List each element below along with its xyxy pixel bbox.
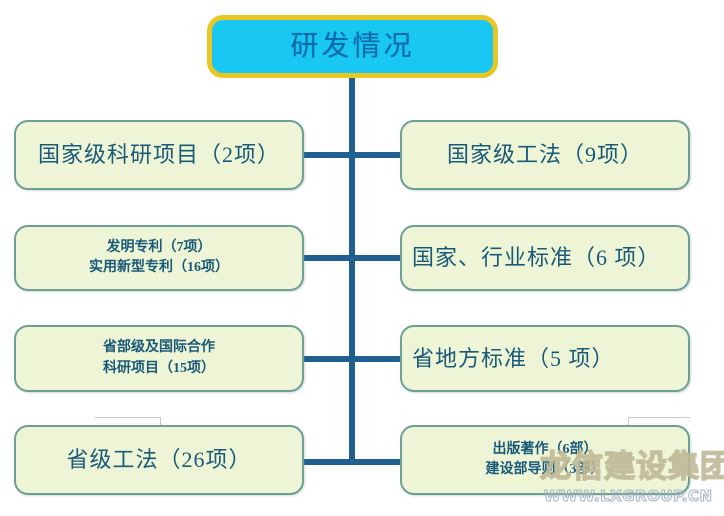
connector-branch-right-4 xyxy=(350,459,405,465)
connector-branch-left-3 xyxy=(300,356,354,362)
diagram-canvas: 研发情况 国家级科研项目（2项） 发明专利（7项） 实用新型专利（16项） 省部… xyxy=(0,0,724,516)
node-left-4-line-1: 省级工法（26项） xyxy=(66,446,251,474)
connector-trunk-vertical xyxy=(349,78,355,465)
node-right-4: 出版著作（6部） 建设部导则（3部） xyxy=(400,425,690,495)
connector-branch-right-2 xyxy=(350,255,405,261)
node-right-2: 国家、行业标准（6 项） xyxy=(400,225,690,291)
node-right-4-line-2: 建设部导则（3部） xyxy=(486,460,605,480)
node-right-3: 省地方标准（5 项） xyxy=(400,325,690,392)
connector-branch-right-3 xyxy=(350,356,405,362)
node-left-1-line-1: 国家级科研项目（2项） xyxy=(38,141,280,169)
diagram-root-node: 研发情况 xyxy=(207,15,498,78)
node-right-1-line-1: 国家级工法（9项） xyxy=(447,141,643,169)
node-left-3-line-1: 省部级及国际合作 xyxy=(103,338,215,358)
node-left-2-line-2: 实用新型专利（16项） xyxy=(89,258,229,278)
node-right-2-line-1: 国家、行业标准（6 项） xyxy=(412,244,661,272)
node-left-4: 省级工法（26项） xyxy=(14,425,304,495)
node-left-1: 国家级科研项目（2项） xyxy=(14,120,304,190)
connector-branch-left-2 xyxy=(300,255,354,261)
node-left-2-line-1: 发明专利（7项） xyxy=(89,238,229,258)
node-left-3-line-2: 科研项目（15项） xyxy=(103,359,215,379)
diagram-root-label: 研发情况 xyxy=(290,29,414,64)
node-right-3-line-1: 省地方标准（5 项） xyxy=(412,345,615,373)
connector-branch-right-1 xyxy=(350,152,405,158)
node-right-4-line-1: 出版著作（6部） xyxy=(486,440,605,460)
node-left-3: 省部级及国际合作 科研项目（15项） xyxy=(14,325,304,392)
node-left-2: 发明专利（7项） 实用新型专利（16项） xyxy=(14,225,304,291)
connector-branch-left-1 xyxy=(300,152,354,158)
node-right-1: 国家级工法（9项） xyxy=(400,120,690,190)
connector-branch-left-4 xyxy=(300,459,354,465)
